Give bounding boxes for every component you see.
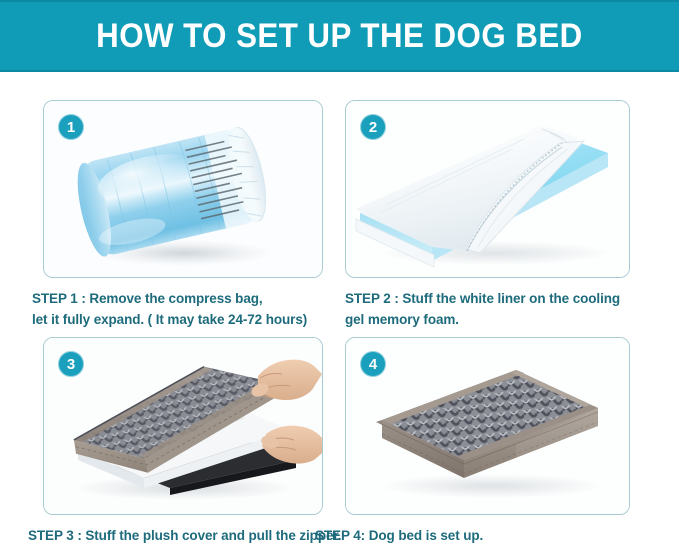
- step-2-image: [346, 101, 629, 277]
- step-2-caption-line-1: STEP 2 : Stuff the white liner on the co…: [345, 288, 620, 309]
- step-1-caption: STEP 1 : Remove the compress bag, let it…: [32, 288, 307, 330]
- step-4-image: [346, 338, 629, 514]
- step-1-caption-line-2: let it fully expand. ( It may take 24-72…: [32, 309, 307, 330]
- steps-grid: 1: [0, 72, 679, 550]
- finished-dog-bed-illustration: [346, 338, 629, 514]
- step-2-caption-line-2: gel memory foam.: [345, 309, 620, 330]
- step-3-caption-line-1: STEP 3 : Stuff the plush cover and pull …: [28, 525, 341, 546]
- liner-over-foam-illustration: [346, 101, 629, 277]
- step-2-caption: STEP 2 : Stuff the white liner on the co…: [345, 288, 620, 330]
- step-4-badge: 4: [360, 351, 386, 377]
- stuffing-plush-cover-illustration: [44, 338, 322, 514]
- step-3-image: [44, 338, 322, 514]
- step-4-card: 4: [345, 337, 630, 515]
- compressed-roll-illustration: [44, 101, 322, 277]
- step-4-caption: STEP 4: Dog bed is set up.: [315, 525, 483, 546]
- step-1-badge: 1: [58, 114, 84, 140]
- step-4-caption-line-1: STEP 4: Dog bed is set up.: [315, 525, 483, 546]
- step-2-card: 2: [345, 100, 630, 278]
- page-title: HOW TO SET UP THE DOG BED: [96, 19, 583, 53]
- step-3-card: 3: [43, 337, 323, 515]
- step-1-card: 1: [43, 100, 323, 278]
- step-3-badge: 3: [58, 351, 84, 377]
- step-1-image: [44, 101, 322, 277]
- step-1-caption-line-1: STEP 1 : Remove the compress bag,: [32, 288, 307, 309]
- step-2-badge: 2: [360, 114, 386, 140]
- step-3-caption: STEP 3 : Stuff the plush cover and pull …: [28, 525, 341, 546]
- header-banner: HOW TO SET UP THE DOG BED: [0, 0, 679, 72]
- instruction-page: HOW TO SET UP THE DOG BED: [0, 0, 679, 550]
